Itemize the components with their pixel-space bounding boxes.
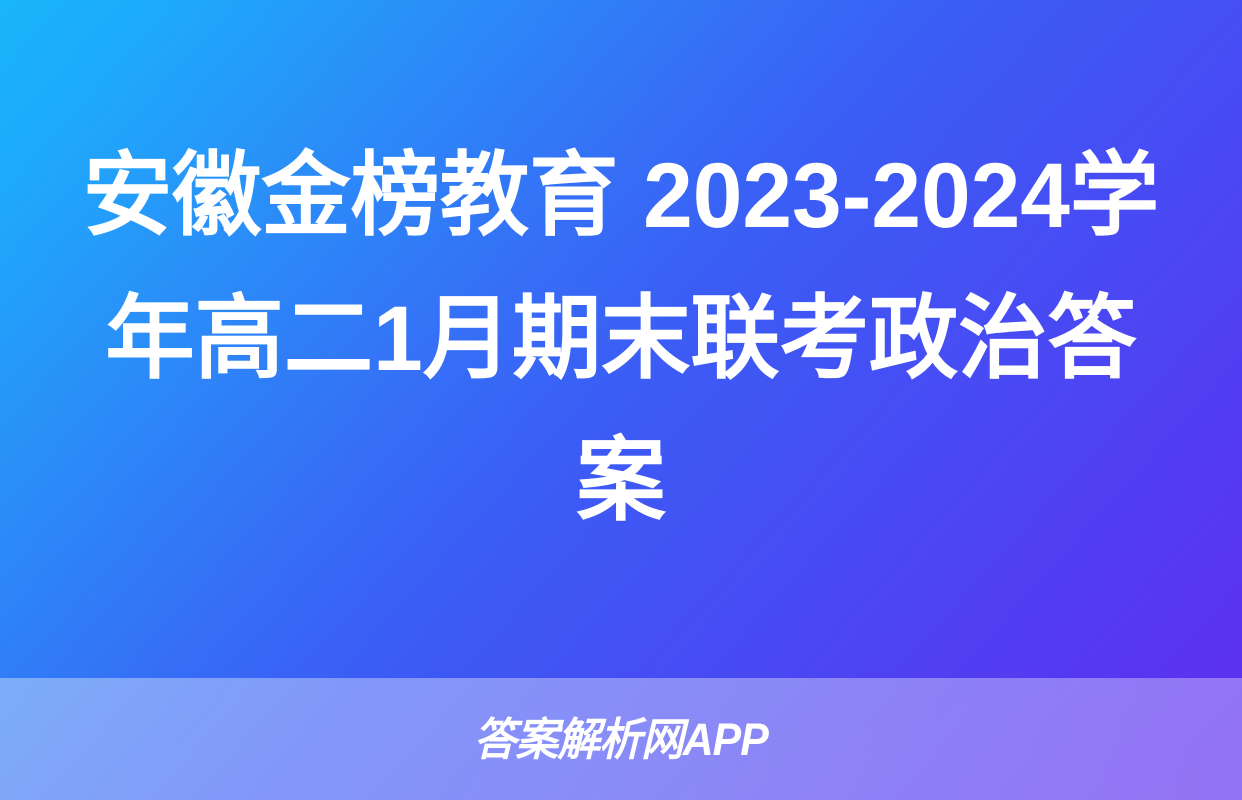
- promo-card: 安徽金榜教育 2023-2024学年高二1月期末联考政治答案 答案解析网APP: [0, 0, 1242, 800]
- app-watermark-label: 答案解析网APP: [474, 717, 768, 762]
- watermark-band: 答案解析网APP: [0, 678, 1242, 800]
- title-area: 安徽金榜教育 2023-2024学年高二1月期末联考政治答案: [60, 0, 1182, 678]
- page-title: 安徽金榜教育 2023-2024学年高二1月期末联考政治答案: [83, 125, 1160, 553]
